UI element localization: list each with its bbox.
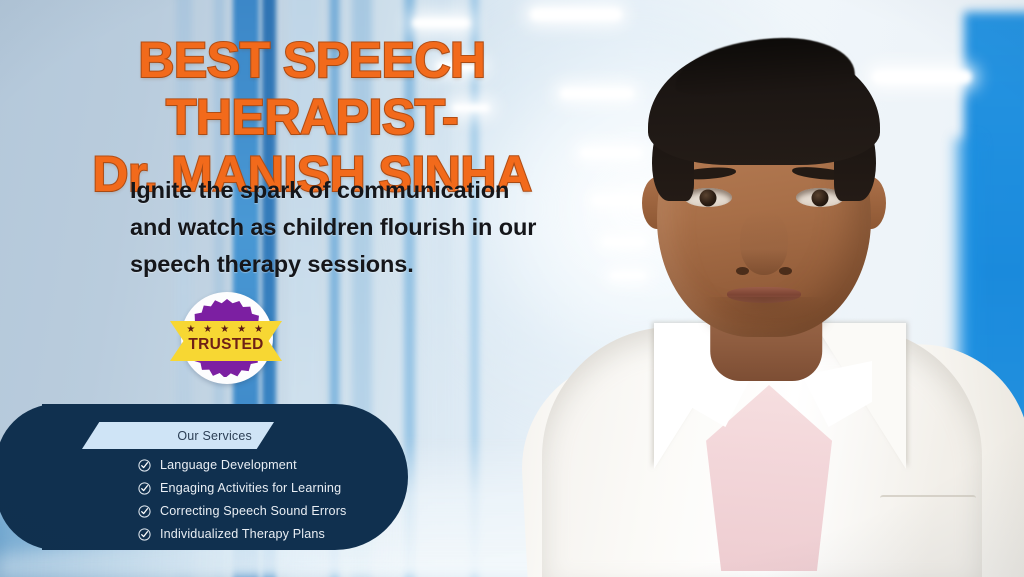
list-item: Language Development [138,458,347,472]
check-circle-icon [138,482,151,495]
trusted-badge: ★ ★ ★ ★ ★ TRUSTED [170,290,282,390]
nostril [779,267,792,275]
services-tag-label: Our Services [177,429,274,443]
tagline: Ignite the spark of communication and wa… [130,172,610,283]
service-label: Correcting Speech Sound Errors [160,504,347,518]
nostril [736,267,749,275]
list-item: Correcting Speech Sound Errors [138,504,347,518]
services-panel: Our Services Language Development Engagi… [42,404,408,550]
badge-stars-icon: ★ ★ ★ ★ ★ [170,324,282,335]
list-item: Individualized Therapy Plans [138,527,347,541]
list-item: Engaging Activities for Learning [138,481,347,495]
badge-label: TRUSTED [170,336,282,354]
service-label: Language Development [160,458,297,472]
promo-banner: BEST SPEECH THERAPIST- Dr. MANISH SINHA … [0,0,1024,577]
service-label: Engaging Activities for Learning [160,481,341,495]
ceiling-light [412,18,470,28]
check-circle-icon [138,528,151,541]
check-circle-icon [138,505,151,518]
nose [740,211,788,275]
services-list: Language Development Engaging Activities… [138,458,347,550]
services-tag: Our Services [82,422,274,449]
lab-coat-pocket [880,495,976,559]
service-label: Individualized Therapy Plans [160,527,325,541]
check-circle-icon [138,459,151,472]
chin-shadow [704,297,824,327]
